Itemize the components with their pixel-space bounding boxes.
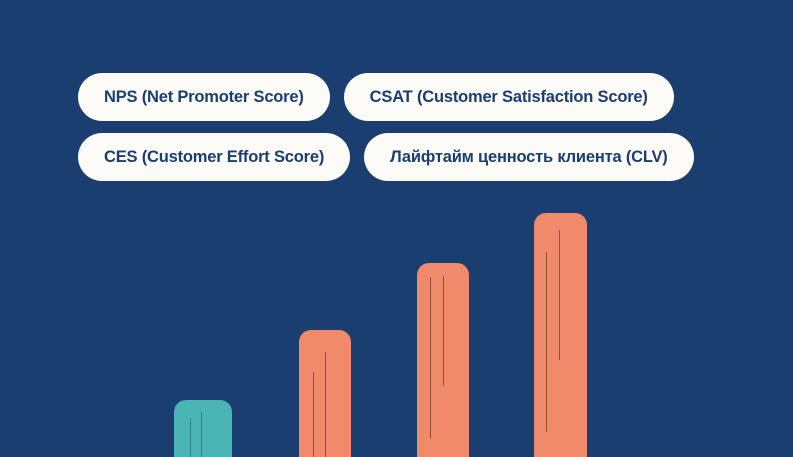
chart-bar-2 — [299, 330, 351, 457]
bar-chart — [0, 0, 793, 457]
bar-streak-long — [559, 230, 560, 360]
bar-streak-long — [201, 412, 202, 457]
chip-ces[interactable]: CES (Customer Effort Score) — [78, 133, 350, 181]
slide-canvas: NPS (Net Promoter Score) CSAT (Customer … — [0, 0, 793, 457]
bar-streak-long — [443, 276, 444, 386]
chart-bar-1 — [174, 400, 232, 457]
bar-streak-long — [325, 352, 326, 457]
chip-clv[interactable]: Лайфтайм ценность клиента (CLV) — [364, 133, 693, 181]
bar-streak-short — [313, 372, 314, 457]
bar-streak-short — [546, 252, 547, 432]
chart-bar-3 — [417, 263, 469, 457]
chip-nps[interactable]: NPS (Net Promoter Score) — [78, 73, 330, 121]
chip-csat[interactable]: CSAT (Customer Satisfaction Score) — [344, 73, 674, 121]
bar-streak-short — [430, 277, 431, 439]
metric-chip-row-2: CES (Customer Effort Score) Лайфтайм цен… — [78, 133, 718, 181]
bar-streak-short — [190, 418, 191, 457]
metric-chip-row-1: NPS (Net Promoter Score) CSAT (Customer … — [78, 73, 718, 121]
metric-chip-group: NPS (Net Promoter Score) CSAT (Customer … — [78, 73, 718, 181]
chart-bar-4 — [534, 213, 587, 457]
